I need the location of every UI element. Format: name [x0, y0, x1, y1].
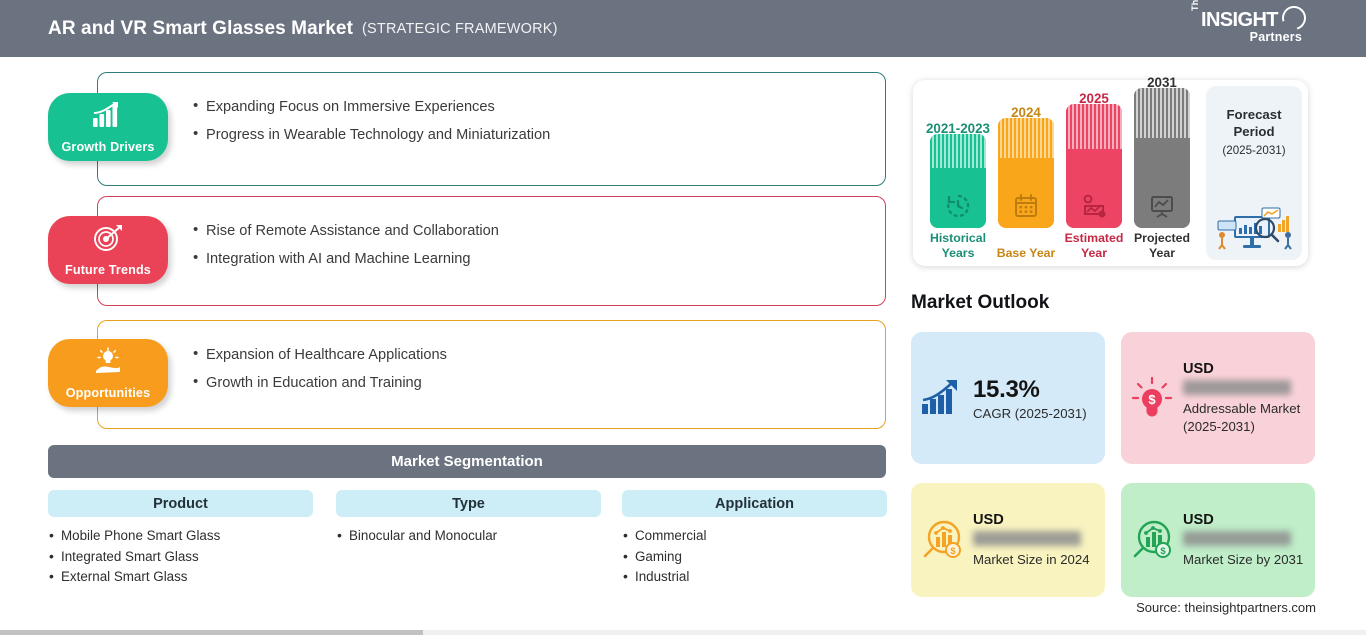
outlook-card-body: USD Addressable Market (2025-2031) — [1183, 361, 1315, 435]
list-item: Growth in Education and Training — [193, 369, 885, 397]
insight-partners-logo: The INSIGHT Partners — [1190, 8, 1308, 50]
badge-future-trends[interactable]: Future Trends — [48, 216, 168, 284]
logo-partners-text: Partners — [1250, 30, 1302, 44]
market-outlook-title: Market Outlook — [911, 292, 1049, 314]
list-item: Industrial — [622, 567, 887, 588]
segmentation-items: Binocular and Monocular — [336, 526, 601, 547]
source-attribution: Source: theinsightpartners.com — [1136, 600, 1316, 615]
redacted-value — [973, 531, 1081, 546]
list-item: Gaming — [622, 547, 887, 568]
segmentation-column-type: Type Binocular and Monocular — [336, 490, 601, 547]
list-item: Commercial — [622, 526, 887, 547]
scrollbar-thumb[interactable] — [0, 630, 423, 635]
magnifier-chart-dollar-icon: $ — [911, 518, 973, 562]
list-item: Mobile Phone Smart Glass — [48, 526, 313, 547]
cagr-value: 15.3% — [973, 376, 1087, 404]
svg-text:$: $ — [950, 546, 956, 557]
segmentation-items: Mobile Phone Smart Glass Integrated Smar… — [48, 526, 313, 588]
timeline-bar — [1134, 88, 1190, 228]
callout-list-opportunities: Expansion of Healthcare Applications Gro… — [193, 321, 885, 397]
redacted-value — [1183, 380, 1291, 395]
magnifier-chart-dollar-icon: $ — [1121, 518, 1183, 562]
segmentation-column-application: Application Commercial Gaming Industrial — [622, 490, 887, 588]
timeline-bar-solid — [1134, 138, 1190, 228]
timeline-bar-stripes — [998, 118, 1054, 158]
currency-label: USD — [1183, 512, 1303, 528]
badge-label: Opportunities — [66, 386, 151, 400]
badge-label: Growth Drivers — [61, 140, 154, 154]
timeline-bar-solid — [998, 158, 1054, 228]
badge-growth-drivers[interactable]: Growth Drivers — [48, 93, 168, 161]
outlook-card-body: USD Market Size by 2031 — [1183, 512, 1311, 569]
callout-list-future-trends: Rise of Remote Assistance and Collaborat… — [193, 197, 885, 273]
growth-chart-icon — [911, 378, 973, 418]
list-item: Progress in Wearable Technology and Mini… — [193, 121, 885, 149]
outlook-card-body: 15.3% CAGR (2025-2031) — [973, 376, 1095, 421]
clock-history-icon — [945, 193, 971, 219]
list-item: External Smart Glass — [48, 567, 313, 588]
list-item: Expansion of Healthcare Applications — [193, 341, 885, 369]
list-item: Integration with AI and Machine Learning — [193, 245, 885, 273]
segmentation-items: Commercial Gaming Industrial — [622, 526, 887, 588]
timeline-bar-stripes — [930, 134, 986, 168]
timeline-bar — [998, 118, 1054, 228]
currency-label: USD — [1183, 361, 1307, 377]
outlook-card-cagr[interactable]: 15.3% CAGR (2025-2031) — [911, 332, 1105, 464]
hand-lightbulb-icon — [91, 347, 125, 375]
segmentation-header: Type — [336, 490, 601, 517]
card-label: Market Size by 2031 — [1183, 551, 1303, 569]
data-analysis-illustration — [1210, 202, 1298, 252]
callout-list-growth-drivers: Expanding Focus on Immersive Experiences… — [193, 73, 885, 149]
outlook-card-addressable-market[interactable]: $ USD Addressable Market (2025-2031) — [1121, 332, 1315, 464]
calendar-icon — [1013, 193, 1039, 219]
svg-text:$: $ — [1148, 392, 1156, 407]
outlook-card-body: USD Market Size in 2024 — [973, 512, 1098, 569]
segmentation-header: Application — [622, 490, 887, 517]
timeline-bar-stripes — [1066, 104, 1122, 149]
list-item: Integrated Smart Glass — [48, 547, 313, 568]
page-title: AR and VR Smart Glasses Market — [48, 18, 353, 40]
timeline-caption: Projected Year — [1122, 231, 1202, 260]
horizontal-scrollbar[interactable] — [0, 630, 1366, 635]
bar-chart-arrow-icon — [91, 101, 125, 129]
page-subtitle: (STRATEGIC FRAMEWORK) — [362, 21, 558, 37]
callout-box-growth-drivers: Expanding Focus on Immersive Experiences… — [97, 72, 886, 186]
timeline-bar-solid — [930, 168, 986, 228]
timeline-bar — [930, 134, 986, 228]
card-label: Market Size in 2024 — [973, 551, 1090, 569]
page-header: AR and VR Smart Glasses Market (STRATEGI… — [0, 0, 1366, 57]
timeline-bar-stripes — [1134, 88, 1190, 138]
callout-box-future-trends: Rise of Remote Assistance and Collaborat… — [97, 196, 886, 306]
badge-label: Future Trends — [65, 263, 151, 277]
timeline-bar — [1066, 104, 1122, 228]
segmentation-header: Product — [48, 490, 313, 517]
forecast-period-range: (2025-2031) — [1222, 144, 1285, 157]
list-item: Binocular and Monocular — [336, 526, 601, 547]
svg-text:$: $ — [1160, 546, 1166, 557]
outlook-card-market-size-2024[interactable]: $ USD Market Size in 2024 — [911, 483, 1105, 597]
timeline-bars: 2021-2023 Historical Years 2024 — [927, 80, 1210, 266]
timeline-panel: 2021-2023 Historical Years 2024 — [913, 80, 1308, 266]
market-segmentation-banner: Market Segmentation — [48, 445, 886, 478]
list-item: Expanding Focus on Immersive Experiences — [193, 93, 885, 121]
target-dart-icon — [91, 224, 125, 252]
callout-box-opportunities: Expansion of Healthcare Applications Gro… — [97, 320, 886, 429]
forecast-period-title: Forecast Period — [1206, 106, 1302, 140]
timeline-bar-solid — [1066, 149, 1122, 228]
presentation-chart-icon — [1149, 193, 1175, 219]
card-label: Addressable Market (2025-2031) — [1183, 400, 1307, 435]
outlook-card-market-size-2031[interactable]: $ USD Market Size by 2031 — [1121, 483, 1315, 597]
forecast-chart-icon — [1081, 193, 1107, 219]
lightbulb-dollar-icon: $ — [1121, 376, 1183, 420]
currency-label: USD — [973, 512, 1090, 528]
segmentation-column-product: Product Mobile Phone Smart Glass Integra… — [48, 490, 313, 588]
list-item: Rise of Remote Assistance and Collaborat… — [193, 217, 885, 245]
forecast-period-panel: Forecast Period (2025-2031) — [1206, 86, 1302, 260]
badge-opportunities[interactable]: Opportunities — [48, 339, 168, 407]
redacted-value — [1183, 531, 1291, 546]
logo-the-text: The — [1190, 0, 1200, 11]
cagr-label: CAGR (2025-2031) — [973, 406, 1087, 421]
logo-insight-text: INSIGHT — [1201, 9, 1278, 32]
